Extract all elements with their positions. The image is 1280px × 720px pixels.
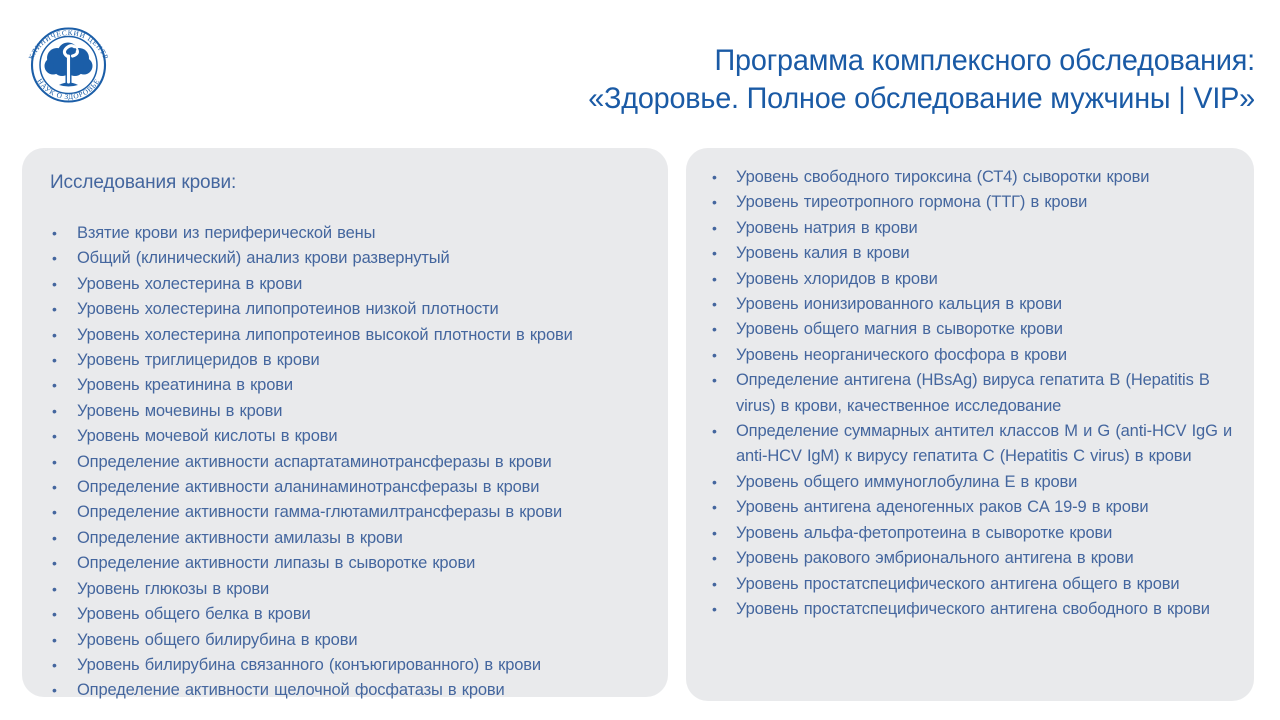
list-item: Определение суммарных антител классов M … xyxy=(698,419,1242,470)
list-item: Определение активности щелочной фосфатаз… xyxy=(36,678,654,703)
list-item: Определение антигена (HBsAg) вируса гепа… xyxy=(698,368,1242,419)
list-item: Уровень билирубина связанного (конъюгиро… xyxy=(36,653,654,678)
list-item: Уровень простатспецифического антигена с… xyxy=(698,597,1242,622)
slide-title: Программа комплексного обследования: «Зд… xyxy=(338,42,1255,118)
list-item: Уровень холестерина в крови xyxy=(36,272,654,297)
blood-tests-panel-right: Уровень свободного тироксина (СТ4) сывор… xyxy=(686,148,1254,701)
list-item: Уровень альфа-фетопротеина в сыворотке к… xyxy=(698,521,1242,546)
list-item: Уровень натрия в крови xyxy=(698,216,1242,241)
blood-tests-list-right: Уровень свободного тироксина (СТ4) сывор… xyxy=(698,165,1242,622)
blood-tests-list-left: Взятие крови из периферической веныОбщий… xyxy=(36,221,654,704)
list-item: Уровень холестерина липопротеинов высоко… xyxy=(36,323,654,348)
blood-tests-panel-left: Исследования крови: Взятие крови из пери… xyxy=(22,148,668,697)
list-item: Уровень мочевины в крови xyxy=(36,399,654,424)
list-item: Уровень тиреотропного гормона (ТТГ) в кр… xyxy=(698,190,1242,215)
list-item: Уровень креатинина в крови xyxy=(36,373,654,398)
list-item: Определение активности гамма-глютамилтра… xyxy=(36,500,654,525)
list-item: Уровень антигена аденогенных раков CA 19… xyxy=(698,495,1242,520)
list-item: Уровень общего магния в сыворотке крови xyxy=(698,317,1242,342)
slide-title-line-2: «Здоровье. Полное обследование мужчины |… xyxy=(338,80,1255,118)
slide-title-line-1: Программа комплексного обследования: xyxy=(338,42,1255,80)
list-item: Определение активности липазы в сыворотк… xyxy=(36,551,654,576)
list-item: Определение активности аланинаминотрансф… xyxy=(36,475,654,500)
list-item: Уровень хлоридов в крови xyxy=(698,267,1242,292)
list-item: Уровень ракового эмбрионального антигена… xyxy=(698,546,1242,571)
list-item: Уровень общего белка в крови xyxy=(36,602,654,627)
list-item: Определение активности амилазы в крови xyxy=(36,526,654,551)
list-item: Определение активности аспартатаминотран… xyxy=(36,450,654,475)
list-item: Уровень свободного тироксина (СТ4) сывор… xyxy=(698,165,1242,190)
list-item: Уровень общего билирубина в крови xyxy=(36,628,654,653)
list-item: Взятие крови из периферической вены xyxy=(36,221,654,246)
list-item: Уровень холестерина липопротеинов низкой… xyxy=(36,297,654,322)
list-item: Уровень глюкозы в крови xyxy=(36,577,654,602)
clinic-logo: КЛИНИЧЕСКИЙ ЦЕНТР НАУК О ЗДОРОВЬЕ xyxy=(17,12,120,115)
list-item: Общий (клинический) анализ крови разверн… xyxy=(36,246,654,271)
list-item: Уровень общего иммуноглобулина E в крови xyxy=(698,470,1242,495)
list-item: Уровень простатспецифического антигена о… xyxy=(698,572,1242,597)
list-item: Уровень мочевой кислоты в крови xyxy=(36,424,654,449)
list-item: Уровень ионизированного кальция в крови xyxy=(698,292,1242,317)
list-item: Уровень неорганического фосфора в крови xyxy=(698,343,1242,368)
list-item: Уровень триглицеридов в крови xyxy=(36,348,654,373)
list-item: Уровень калия в крови xyxy=(698,241,1242,266)
panel-left-heading: Исследования крови: xyxy=(50,170,654,196)
